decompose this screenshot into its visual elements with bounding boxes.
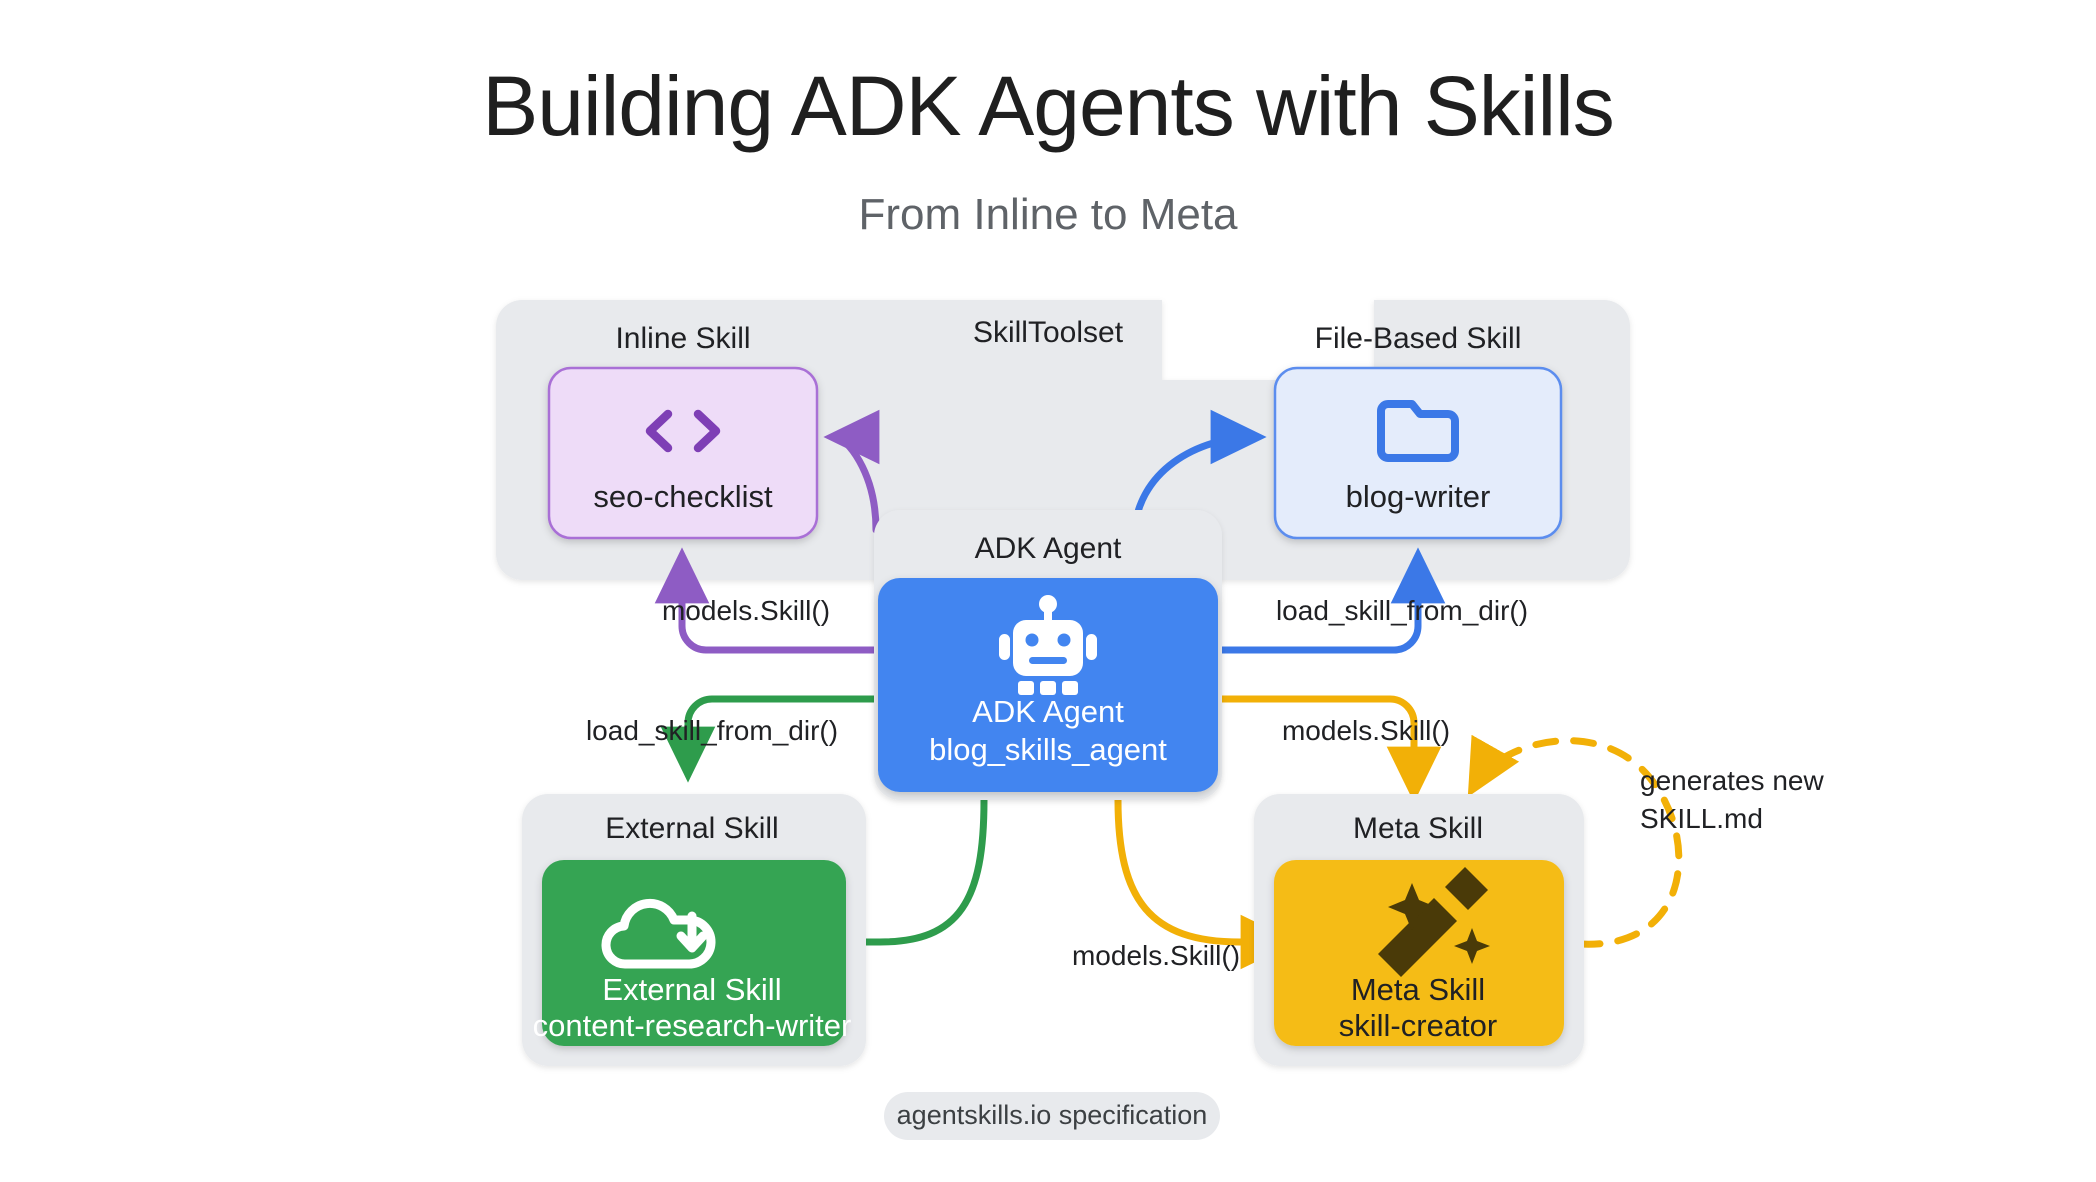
edge-label-meta-loop-line1: generates new: [1640, 765, 1824, 796]
node-label-meta-line2: skill-creator: [1339, 1008, 1497, 1043]
edge-label-agent-to-meta: models.Skill(): [1282, 715, 1450, 746]
panel-title-agent: ADK Agent: [975, 532, 1122, 565]
architecture-diagram: SkillToolset Inline Skill seo-checklist …: [0, 0, 2096, 1182]
node-label-inline: seo-checklist: [593, 479, 773, 514]
panel-title-external: External Skill: [605, 812, 778, 845]
edge-label-agent-to-inline: models.Skill(): [662, 595, 830, 626]
footer-chip[interactable]: agentskills.io specification: [884, 1092, 1220, 1140]
edge-agent-to-meta: models.Skill(): [1222, 699, 1450, 790]
node-label-external-line1: External Skill: [602, 972, 781, 1007]
footer-chip-label: agentskills.io specification: [897, 1100, 1208, 1130]
node-label-meta-line1: Meta Skill: [1351, 972, 1485, 1007]
panel-external-skill[interactable]: External Skill External Skill content-re…: [522, 794, 866, 1066]
panel-title-file-based: File-Based Skill: [1315, 322, 1522, 355]
edge-label-meta-loop-line2: SKILL.md: [1640, 803, 1763, 834]
panel-title-inline: Inline Skill: [615, 322, 750, 355]
node-label-external-line2: content-research-writer: [533, 1008, 852, 1043]
edge-label-agent-to-file: load_skill_from_dir(): [1276, 595, 1528, 626]
edge-label-agent-to-meta-2: models.Skill(): [1072, 940, 1240, 971]
panel-meta-skill[interactable]: Meta Skill Meta Skill skill-creator: [1254, 794, 1584, 1066]
edge-agent-to-external: load_skill_from_dir(): [586, 699, 874, 770]
node-label-agent-line1: ADK Agent: [972, 694, 1124, 729]
node-label-agent-line2: blog_skills_agent: [929, 732, 1167, 767]
edge-agent-to-meta-curve: models.Skill(): [1072, 800, 1284, 971]
slide-canvas: Building ADK Agents with Skills From Inl…: [0, 0, 2096, 1182]
edge-label-agent-to-external: load_skill_from_dir(): [586, 715, 838, 746]
panel-title-meta: Meta Skill: [1353, 812, 1483, 845]
skilltoolset-label: SkillToolset: [973, 316, 1124, 349]
panel-file-based-skill[interactable]: File-Based Skill blog-writer: [1275, 322, 1561, 538]
panel-adk-agent[interactable]: ADK Agent ADK Agent blog_skills_agent: [874, 510, 1222, 800]
node-label-file-based: blog-writer: [1346, 479, 1491, 514]
